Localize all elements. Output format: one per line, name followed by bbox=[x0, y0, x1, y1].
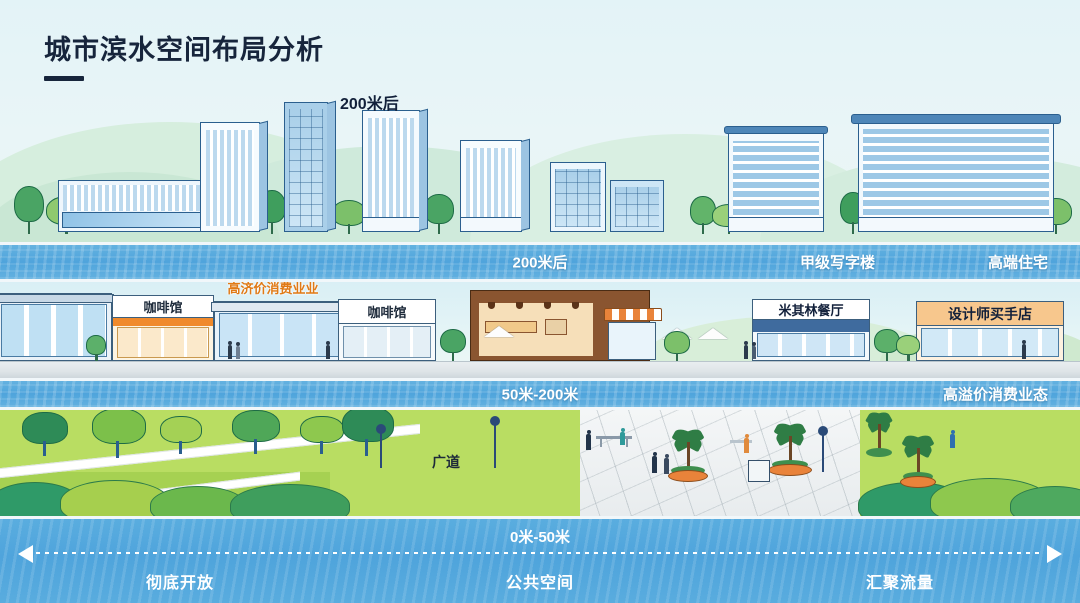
shop-sign-michelin: 米其林餐厅 bbox=[753, 300, 869, 320]
waterfront-layout-poster: 200米后 200米后 甲级写字楼 高端住宅 咖啡馆 高济价消费业业 咖 bbox=[0, 0, 1080, 603]
band-200m-tag-office: 甲级写字楼 bbox=[800, 252, 875, 273]
band-50-200m: 50米-200米 高溢价消费业态 bbox=[0, 378, 1080, 410]
building-tower bbox=[200, 122, 260, 232]
street-lamp bbox=[380, 432, 382, 468]
palm-planter bbox=[768, 414, 812, 476]
pendant-lamp-icon bbox=[516, 302, 523, 309]
park-label: 广道 bbox=[432, 452, 460, 472]
shop-designer: 设计师买手店 bbox=[916, 301, 1064, 361]
building-office bbox=[610, 180, 664, 232]
legend-item-public: 公共空间 bbox=[360, 569, 720, 593]
retail-zone: 咖啡馆 高济价消费业业 咖啡馆 米其林餐厅 bbox=[0, 282, 1080, 378]
pedestrian bbox=[236, 346, 240, 359]
plaza-person bbox=[744, 438, 749, 453]
band-50-200m-tag: 高溢价消费业态 bbox=[943, 384, 1048, 405]
band-200m: 200米后 甲级写字楼 高端住宅 bbox=[0, 242, 1080, 282]
band-50-200m-distance-label: 50米-200米 bbox=[0, 384, 1080, 405]
street-lamp bbox=[822, 434, 824, 472]
building-office bbox=[550, 162, 606, 232]
pendant-lamp-icon bbox=[488, 302, 495, 309]
building-tower bbox=[284, 102, 328, 232]
park-tree bbox=[232, 410, 280, 454]
pedestrian bbox=[752, 346, 756, 359]
plaza-bench-leg bbox=[626, 439, 628, 447]
tree bbox=[896, 335, 920, 361]
palm-planter bbox=[864, 416, 894, 464]
plaza-person bbox=[664, 458, 669, 474]
pendant-lamp-icon bbox=[544, 302, 551, 309]
plaza-person bbox=[652, 456, 657, 473]
cafe-entrance-glass bbox=[608, 322, 656, 360]
pedestrian bbox=[228, 345, 232, 359]
range-dotted-line bbox=[36, 552, 1044, 554]
bottom-distance-label: 0米-50米 bbox=[0, 526, 1080, 547]
tree bbox=[86, 335, 106, 361]
skyline-distance-callout: 200米后 bbox=[340, 90, 399, 114]
band-200m-distance-label: 200米后 bbox=[0, 252, 1080, 273]
shop-sign-designer: 设计师买手店 bbox=[917, 302, 1063, 326]
retail-zone-banner: 高济价消费业业 bbox=[200, 282, 346, 296]
patio-umbrella bbox=[698, 328, 728, 339]
left-arrow-icon bbox=[18, 545, 33, 563]
park-tree bbox=[92, 410, 146, 458]
legend-item-flow: 汇聚流量 bbox=[720, 569, 1080, 593]
tree bbox=[14, 186, 44, 234]
building-tower bbox=[460, 140, 522, 232]
plaza-person bbox=[620, 432, 625, 445]
palm-planter bbox=[668, 424, 708, 482]
tree bbox=[664, 331, 690, 361]
building-residential bbox=[858, 120, 1054, 232]
bottom-legend-row: 彻底开放 公共空间 汇聚流量 bbox=[0, 569, 1080, 593]
plaza-bench-leg bbox=[600, 439, 602, 447]
plaza-person-wheelchair bbox=[950, 434, 955, 448]
pedestrian bbox=[326, 345, 330, 359]
palm-planter bbox=[900, 434, 936, 488]
park-tree bbox=[300, 416, 344, 454]
tree bbox=[424, 194, 454, 234]
building-residential bbox=[728, 132, 824, 232]
park-plaza-zone: 广道 bbox=[0, 410, 1080, 516]
park-tree bbox=[160, 416, 202, 454]
band-200m-tag-residence: 高端住宅 bbox=[988, 252, 1048, 273]
shop-sign-coffee-1: 咖啡馆 bbox=[113, 296, 213, 318]
pendant-lamp-icon bbox=[572, 302, 579, 309]
shop-coffee-2: 咖啡馆 bbox=[338, 299, 436, 361]
plaza-signboard bbox=[748, 460, 770, 482]
shop-awning bbox=[604, 308, 662, 321]
building-tower bbox=[362, 110, 420, 232]
page-title: 城市滨水空间布局分析 bbox=[44, 36, 324, 66]
street-lamp bbox=[494, 424, 496, 468]
legend-item-open: 彻底开放 bbox=[0, 569, 360, 593]
sidewalk bbox=[0, 361, 1080, 378]
right-arrow-icon bbox=[1047, 545, 1062, 563]
title-underline bbox=[44, 76, 84, 81]
park-tree bbox=[22, 412, 68, 456]
pedestrian bbox=[744, 345, 748, 359]
shop-sign-coffee-2: 咖啡馆 bbox=[339, 300, 435, 324]
patio-umbrella bbox=[484, 326, 514, 337]
pedestrian bbox=[1022, 344, 1026, 359]
plaza-person bbox=[586, 434, 591, 450]
tree bbox=[440, 329, 466, 361]
park-tree bbox=[342, 410, 394, 456]
building-curved-glass bbox=[58, 180, 208, 232]
shop-michelin: 米其林餐厅 bbox=[752, 299, 870, 361]
tree bbox=[332, 200, 366, 234]
shop-coffee-1: 咖啡馆 bbox=[112, 295, 214, 361]
title-block: 城市滨水空间布局分析 bbox=[44, 36, 324, 81]
bottom-legend-band: 0米-50米 彻底开放 公共空间 汇聚流量 bbox=[0, 516, 1080, 603]
